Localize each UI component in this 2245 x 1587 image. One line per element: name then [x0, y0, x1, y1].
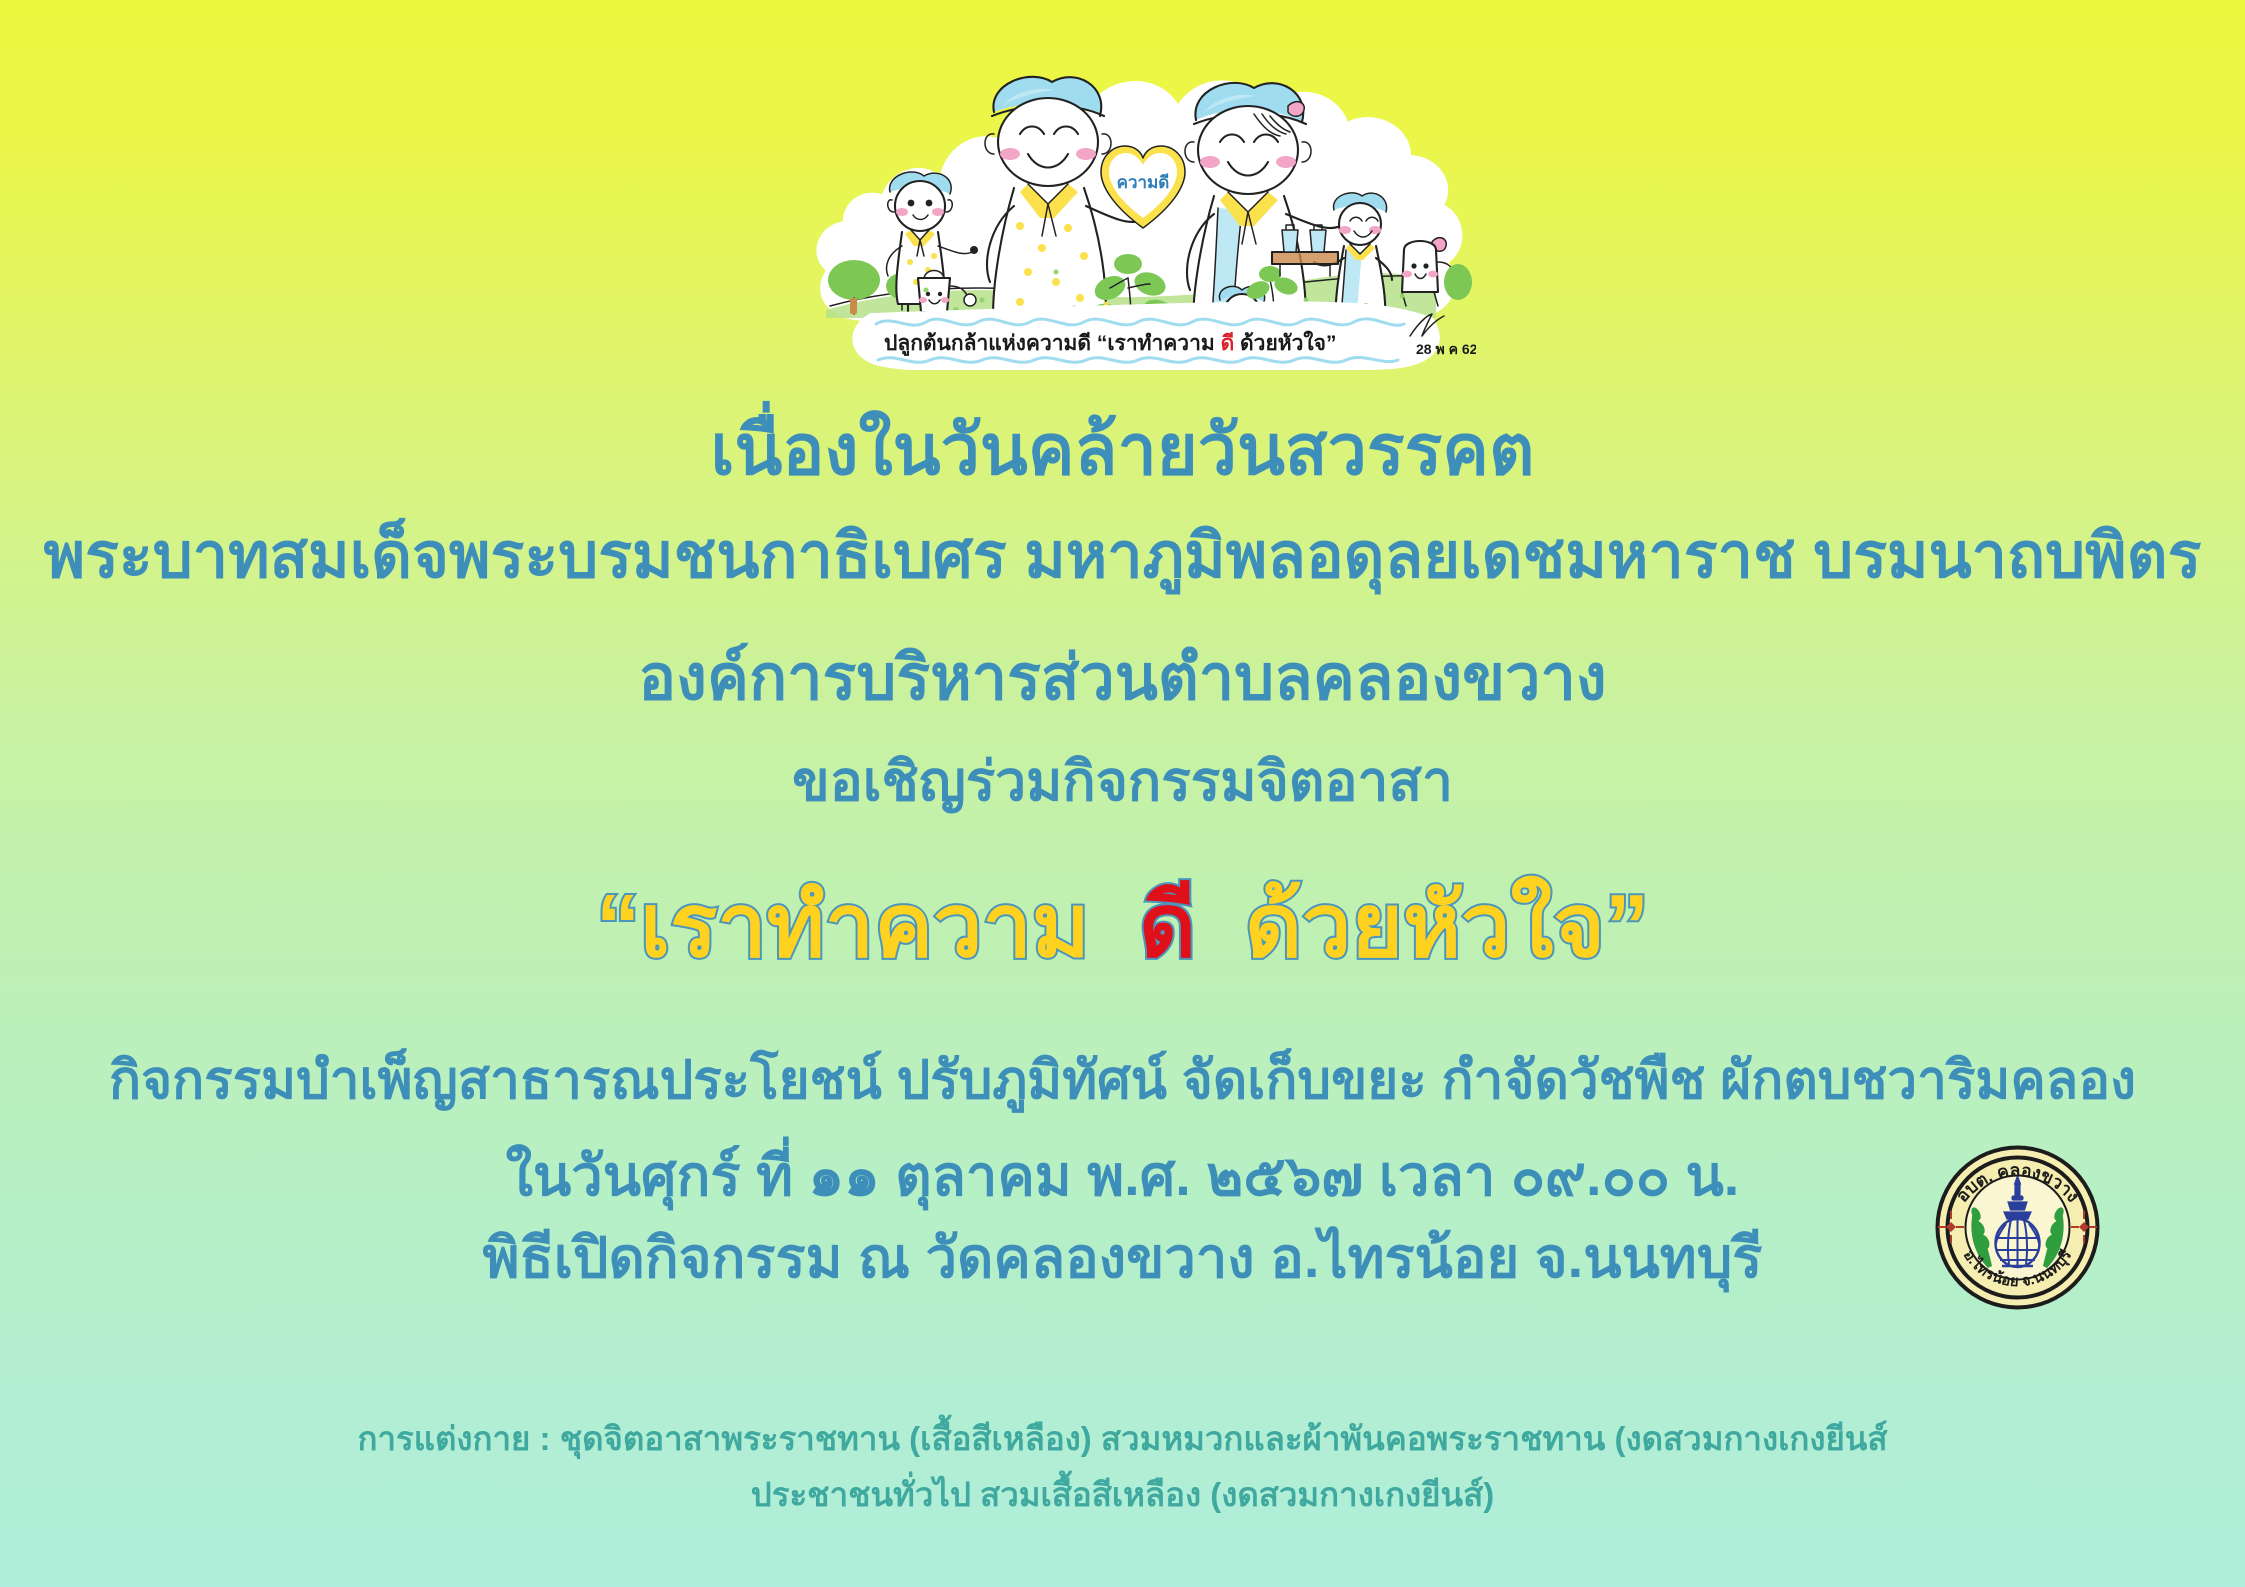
slogan: “เราทำความ ดี ด้วยหัวใจ” [0, 855, 2245, 995]
slogan-part-2: ด้วยหัวใจ [1245, 876, 1605, 975]
volunteer-children-planting-illustration: .ink{fill:none;stroke:#222;stroke-width:… [806, 18, 1476, 370]
event-date-time: ในวันศุกร์ ที่ ๑๑ ตุลาคม พ.ศ. ๒๕๖๗ เวลา … [0, 1131, 2245, 1220]
illustration-signature-date: 28 พ ค 62 [1416, 341, 1476, 357]
dress-code-line-1: การแต่งกาย : ชุดจิตอาสาพระราชทาน (เสื้อส… [0, 1412, 2245, 1465]
poster-canvas: .ink{fill:none;stroke:#222;stroke-width:… [0, 0, 2245, 1587]
heading-line-2: พระบาทสมเด็จพระบรมชนกาธิเบศร มหาภูมิพลอด… [0, 505, 2245, 605]
dress-code-line-2: ประชาชนทั่วไป สวมเสื้อสีเหลือง (งดสวมกาง… [0, 1468, 2245, 1521]
activity-description: กิจกรรมบำเพ็ญสาธารณประโยชน์ ปรับภูมิทัศน… [0, 1038, 2245, 1122]
slogan-open-quote: “ [596, 875, 640, 977]
illustration-caption: ปลูกต้นกล้าแห่งความดี “เราทำความ ดี ด้วย… [884, 330, 1336, 357]
heading-line-1: เนื่องในวันคล้ายวันสวรรคต [0, 394, 2245, 505]
slogan-highlight: ดี [1139, 876, 1196, 975]
slogan-close-quote: ” [1605, 875, 1649, 977]
heading-line-4-invitation: ขอเชิญร่วมกิจกรรมจิตอาสา [0, 738, 2245, 825]
slogan-part-1: เราทำความ [640, 876, 1090, 975]
event-venue: พิธีเปิดกิจกรรม ณ วัดคลองขวาง อ.ไทรน้อย … [0, 1213, 2245, 1302]
heading-line-3-organization: องค์การบริหารส่วนตำบลคลองขวาง [0, 627, 2245, 727]
heart-label: ความดี [1117, 172, 1170, 192]
sao-khlong-khwang-seal: อบต. คลองขวาง อ.ไทรน้อย จ.นนทบุรี [1930, 1140, 2105, 1315]
